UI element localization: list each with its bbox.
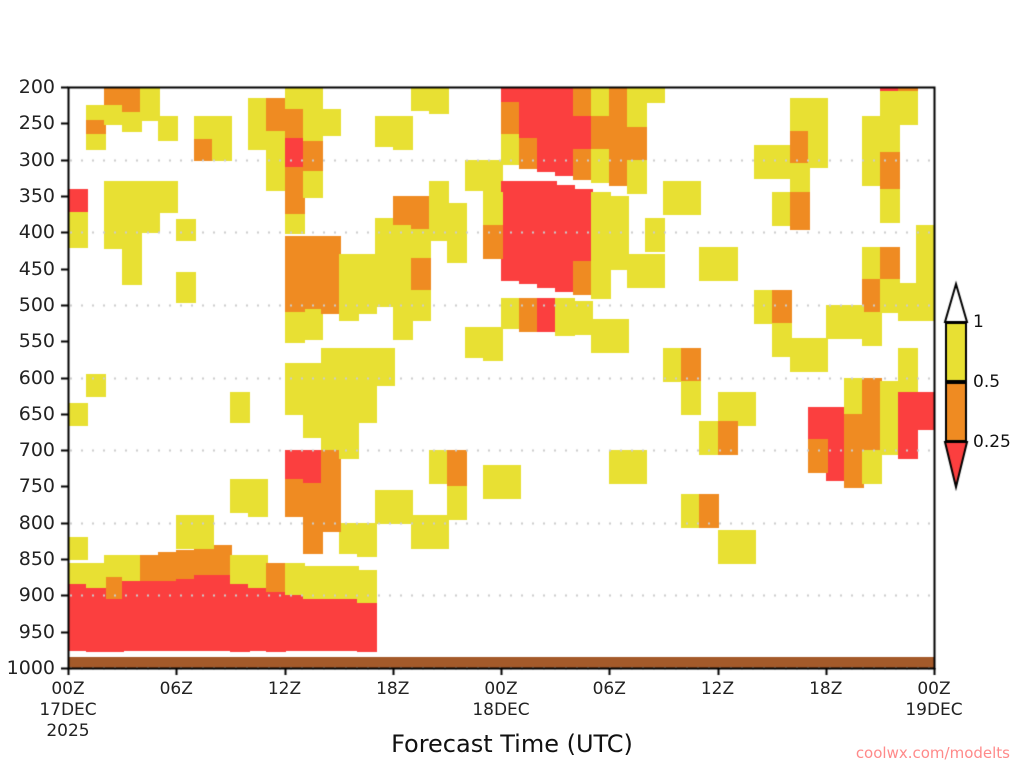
- y-axis-tick-label: 300: [0, 149, 55, 171]
- y-axis-tick-label: 1000: [0, 657, 55, 679]
- y-axis-tick-label: 400: [0, 221, 55, 243]
- x-axis-day-label: 17DEC: [13, 700, 123, 720]
- x-axis-day-label: 19DEC: [879, 700, 989, 720]
- y-axis-tick-label: 450: [0, 258, 55, 280]
- heatmap-plot-canvas: [0, 0, 1024, 768]
- colorbar-tick-label: 0.5: [973, 372, 1000, 392]
- y-axis-tick-label: 500: [0, 294, 55, 316]
- x-axis-tick-label: 12Z: [240, 679, 330, 699]
- x-axis-tick-label: 06Z: [564, 679, 654, 699]
- x-axis-tick-label: 18Z: [781, 679, 871, 699]
- x-axis-tick-label: 06Z: [131, 679, 221, 699]
- y-axis-tick-label: 950: [0, 621, 55, 643]
- colorbar-tick-label: 1: [973, 312, 984, 332]
- x-axis-day-label: 18DEC: [446, 700, 556, 720]
- x-axis-tick-label: 18Z: [348, 679, 438, 699]
- y-axis-tick-label: 800: [0, 512, 55, 534]
- x-axis-tick-label: 00Z: [456, 679, 546, 699]
- chart-root: 2025121700 HRRR Forecast Richardson# KIN…: [0, 0, 1024, 768]
- y-axis-tick-label: 200: [0, 76, 55, 98]
- watermark: coolwx.com/modelts: [856, 744, 1010, 762]
- y-axis-tick-label: 250: [0, 112, 55, 134]
- y-axis-tick-label: 900: [0, 584, 55, 606]
- y-axis-tick-label: 750: [0, 475, 55, 497]
- y-axis-tick-label: 550: [0, 330, 55, 352]
- y-axis-tick-label: 850: [0, 548, 55, 570]
- x-axis-tick-label: 00Z: [889, 679, 979, 699]
- y-axis-tick-label: 650: [0, 403, 55, 425]
- y-axis-tick-label: 700: [0, 439, 55, 461]
- y-axis-tick-label: 350: [0, 185, 55, 207]
- colorbar-tick-label: 0.25: [973, 432, 1011, 452]
- x-axis-tick-label: 12Z: [673, 679, 763, 699]
- x-axis-tick-label: 00Z: [23, 679, 113, 699]
- y-axis-tick-label: 600: [0, 367, 55, 389]
